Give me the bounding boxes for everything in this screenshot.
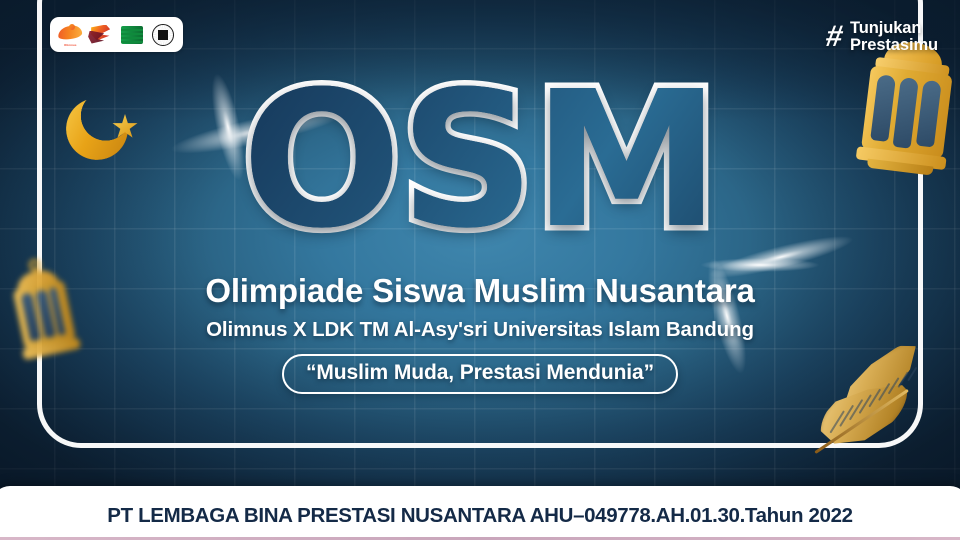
hashtag-words: Tunjukan Prestasimu [850,20,938,54]
hashtag-line-1: Tunjukan [850,20,938,37]
olimnus-logo-icon: Olimnus [56,23,84,47]
footer-bar: PT LEMBAGA BINA PRESTASI NUSANTARA AHU–0… [0,486,960,540]
poster-canvas: Olimnus # Tunjukan Prestasimu OSM OSM [0,0,960,540]
hashtag-line-2: Prestasimu [850,37,938,54]
seal-logo-icon [149,23,177,47]
flame-logo-icon [87,23,115,47]
seal-center-shape [158,30,168,40]
event-subtitle: Olimnus X LDK TM Al-Asy'sri Universitas … [0,318,960,342]
olimnus-logo-caption: Olimnus [57,43,83,47]
hash-symbol-icon: # [824,22,845,52]
lantern-hook [28,258,42,272]
feather-shaft [814,389,909,454]
hashtag-tagline: # Tunjukan Prestasimu [826,20,938,54]
osm-wordmark-wrapper: OSM OSM [0,72,960,251]
olimnus-head-shape [69,24,75,30]
footer-legal-text: PT LEMBAGA BINA PRESTASI NUSANTARA AHU–0… [107,504,852,528]
feather-barb [849,399,863,420]
unisba-logo-icon [118,23,146,47]
feather-barb [839,405,853,427]
tagline-pill: “Muslim Muda, Prestasi Mendunia” [282,354,678,394]
sparkle-glow [700,258,820,272]
partner-logo-badge: Olimnus [50,17,183,52]
osm-wordmark: OSM [242,72,718,251]
event-title: Olimpiade Siswa Muslim Nusantara [0,272,960,310]
unisba-mark-shape [121,26,143,44]
title-text-block: Olimpiade Siswa Muslim Nusantara Olimnus… [0,272,960,394]
feather-barb [859,394,872,414]
feather-barb [829,410,844,433]
